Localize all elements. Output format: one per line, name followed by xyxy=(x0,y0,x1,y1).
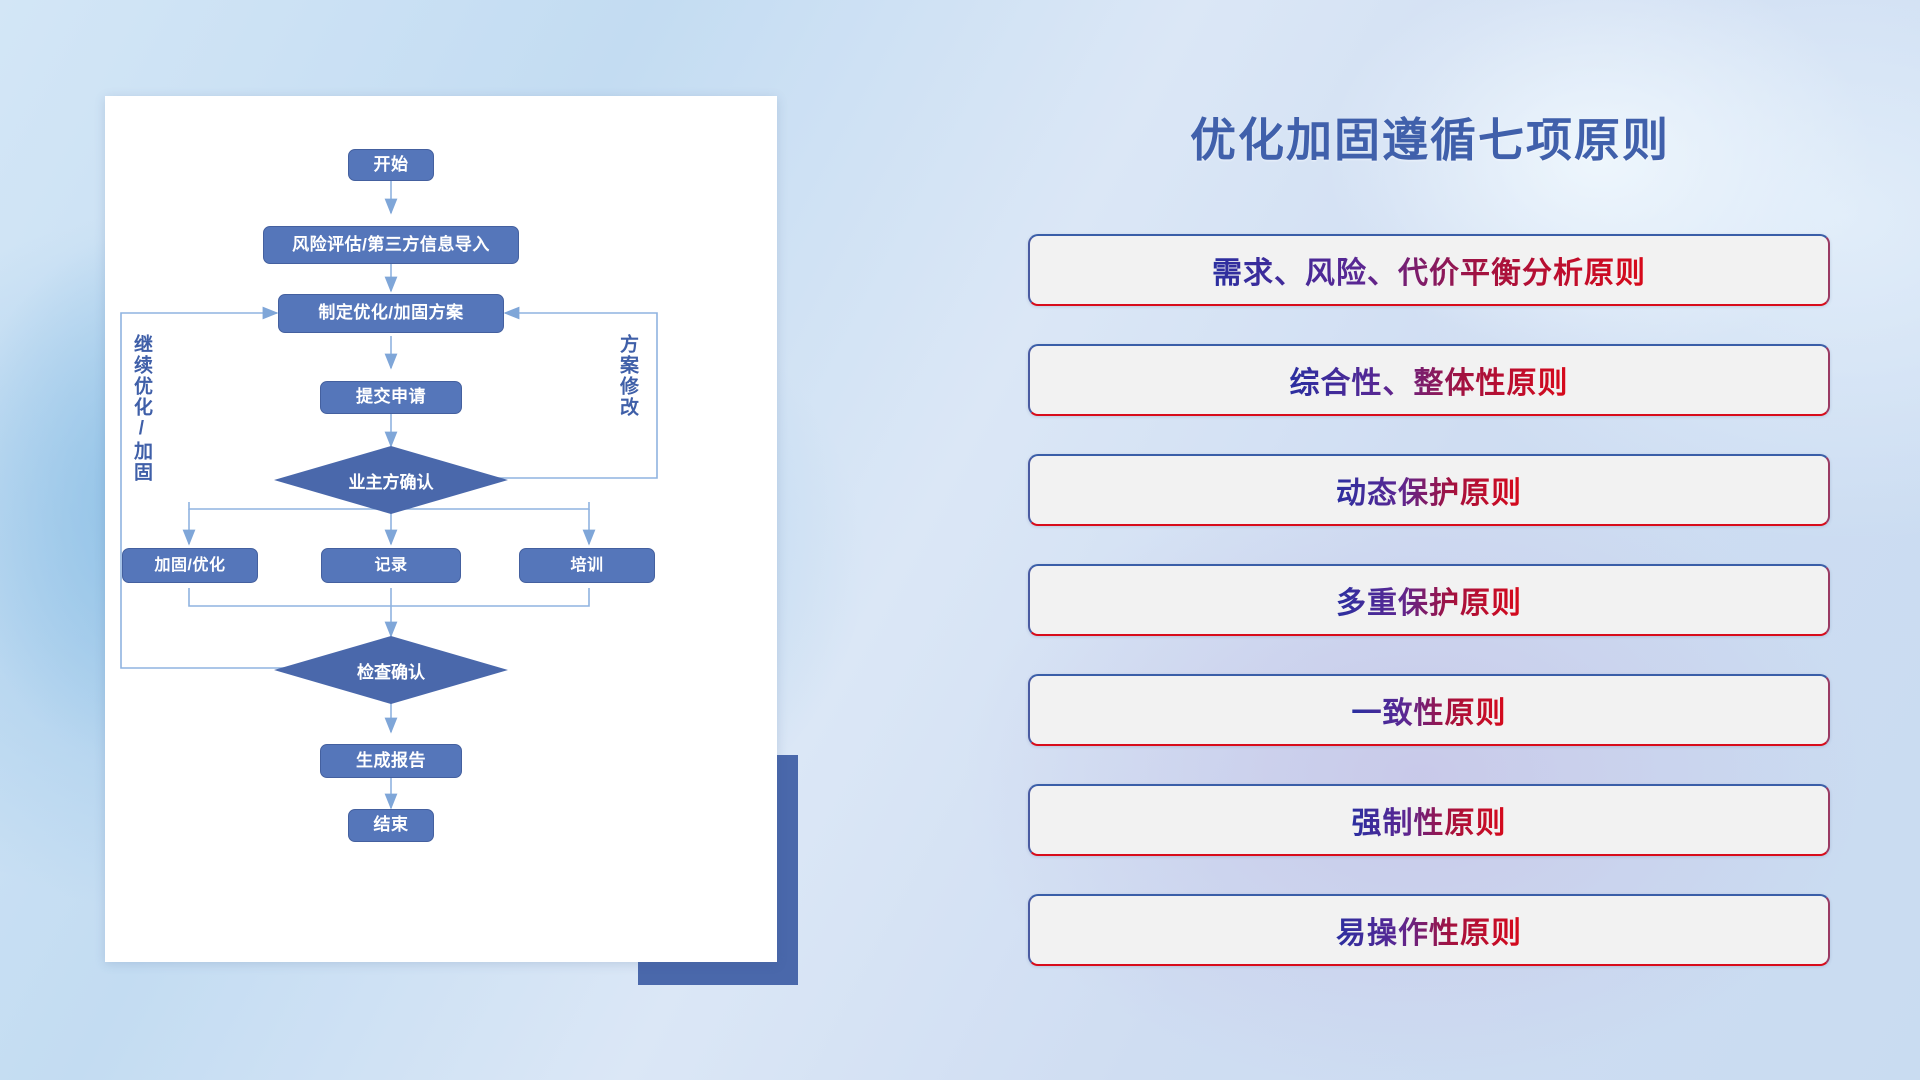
principle-label: 一致性原则 xyxy=(1352,688,1507,732)
flow-node-submit-application[interactable]: 提交申请 xyxy=(320,381,462,414)
principle-item-2[interactable]: 综合性、整体性原则 xyxy=(1028,344,1830,416)
principle-label: 需求、风险、代价平衡分析原则 xyxy=(1212,248,1646,292)
principle-item-1[interactable]: 需求、风险、代价平衡分析原则 xyxy=(1028,234,1830,306)
flow-node-label: 提交申请 xyxy=(356,388,426,407)
principle-item-6[interactable]: 强制性原则 xyxy=(1028,784,1830,856)
principles-panel: 优化加固遵循七项原则 需求、风险、代价平衡分析原则 综合性、整体性原则 动态保护… xyxy=(1010,86,1850,1016)
flow-node-label: 加固/优化 xyxy=(155,557,226,575)
flow-node-make-plan[interactable]: 制定优化/加固方案 xyxy=(278,294,504,333)
flow-node-label: 生成报告 xyxy=(356,752,426,771)
flow-node-training[interactable]: 培训 xyxy=(519,548,655,583)
flowchart-card: 开始 风险评估/第三方信息导入 制定优化/加固方案 提交申请 业主方确认 加固/… xyxy=(105,96,777,962)
flow-decision-inspection-confirm[interactable]: 检查确认 xyxy=(274,636,508,704)
flow-node-label: 培训 xyxy=(570,557,603,575)
flow-node-start[interactable]: 开始 xyxy=(348,149,434,181)
flow-node-generate-report[interactable]: 生成报告 xyxy=(320,744,462,778)
principle-label: 动态保护原则 xyxy=(1336,468,1522,512)
principle-item-3[interactable]: 动态保护原则 xyxy=(1028,454,1830,526)
principle-label: 多重保护原则 xyxy=(1336,578,1522,622)
principle-item-7[interactable]: 易操作性原则 xyxy=(1028,894,1830,966)
flow-node-label: 检查确认 xyxy=(357,658,425,683)
principle-item-4[interactable]: 多重保护原则 xyxy=(1028,564,1830,636)
flow-node-label: 制定优化/加固方案 xyxy=(318,304,463,323)
flow-node-reinforce-optimize[interactable]: 加固/优化 xyxy=(122,548,258,583)
panel-title: 优化加固遵循七项原则 xyxy=(1010,104,1850,170)
flow-edge-label-continue-optimize: 继续优化/加固 xyxy=(131,334,151,483)
flow-node-label: 开始 xyxy=(374,156,409,175)
flow-node-risk-assessment[interactable]: 风险评估/第三方信息导入 xyxy=(263,226,519,264)
principle-label: 易操作性原则 xyxy=(1336,908,1522,952)
principle-item-5[interactable]: 一致性原则 xyxy=(1028,674,1830,746)
flow-node-label: 记录 xyxy=(374,557,407,575)
principle-label: 强制性原则 xyxy=(1352,798,1507,842)
flow-node-end[interactable]: 结束 xyxy=(348,809,434,842)
principle-label: 综合性、整体性原则 xyxy=(1290,358,1569,402)
principles-list: 需求、风险、代价平衡分析原则 综合性、整体性原则 动态保护原则 多重保护原则 一… xyxy=(1028,234,1830,966)
flow-node-label: 业主方确认 xyxy=(349,468,434,493)
flow-node-label: 结束 xyxy=(374,816,409,835)
flow-node-label: 风险评估/第三方信息导入 xyxy=(292,236,490,255)
flow-decision-owner-confirm[interactable]: 业主方确认 xyxy=(274,446,508,514)
flow-node-record[interactable]: 记录 xyxy=(321,548,461,583)
flow-edge-label-plan-revision: 方案修改 xyxy=(617,334,637,418)
flowchart: 开始 风险评估/第三方信息导入 制定优化/加固方案 提交申请 业主方确认 加固/… xyxy=(105,96,777,962)
